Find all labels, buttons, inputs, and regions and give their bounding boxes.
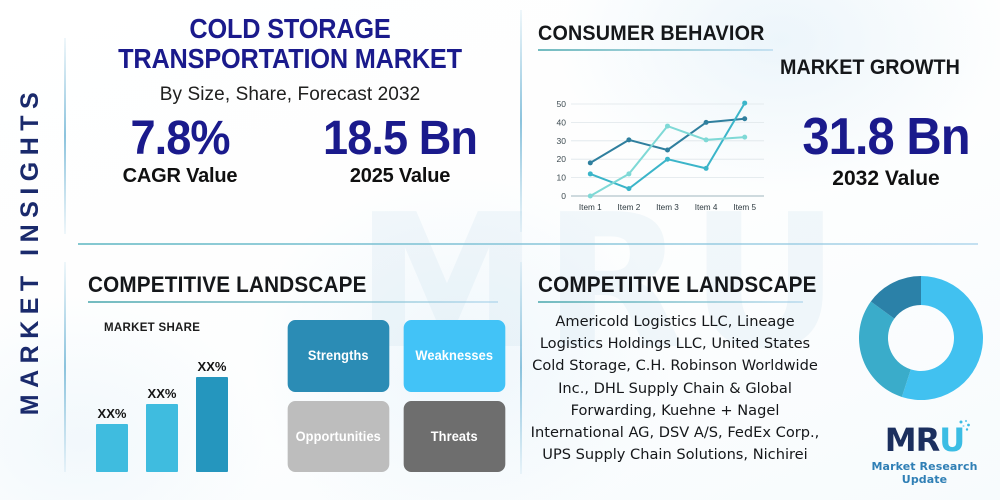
mru-logo: MRU Market Research Update [862,424,987,486]
competitive-landscape-left-rule [88,301,498,303]
market-growth-label: 2032 Value [786,167,986,191]
svg-text:40: 40 [557,117,567,127]
bar-column: XX% [196,344,228,472]
bar-value-label: XX% [98,406,127,421]
svg-text:Item 5: Item 5 [733,203,756,212]
svg-text:20: 20 [557,154,567,164]
title-block: COLD STORAGE TRANSPORTATION MARKET By Si… [70,14,510,188]
swot-box-weaknesses[interactable]: Weaknesses [403,320,504,392]
market-insights-label: MARKET INSIGHTS [17,85,46,414]
svg-text:0: 0 [561,191,566,201]
market-share-title: MARKET SHARE [104,322,200,334]
stat-cagr-label: CAGR Value [70,165,290,188]
stat-2025: 18.5 Bn 2025 Value [290,114,510,188]
logo-mark-dark: MR [885,421,939,459]
page-subtitle: By Size, Share, Forecast 2032 [70,84,510,106]
swot-box-threats[interactable]: Threats [403,401,504,473]
market-growth-value: 31.8 Bn [792,110,980,165]
stat-cagr: 7.8% CAGR Value [70,114,290,188]
divider-vertical-left-bottom [64,262,66,472]
stat-2025-value: 18.5 Bn [297,114,504,164]
consumer-behavior-rule [538,49,773,51]
bar-value-label: XX% [148,386,177,401]
stat-cagr-value: 7.8% [77,114,284,164]
bar-rect [196,377,228,472]
divider-vertical-left-top [64,38,66,234]
bar-rect [96,424,128,472]
svg-text:10: 10 [557,173,567,183]
consumer-behavior-line-chart: 01020304050Item 1Item 2Item 3Item 4Item … [545,98,770,218]
market-share-donut-chart [855,272,987,404]
market-growth-heading: MARKET GROWTH [780,56,960,80]
svg-text:Item 1: Item 1 [579,203,602,212]
competitive-landscape-right-rule [538,301,803,303]
company-list: Americold Logistics LLC, Lineage Logisti… [525,311,825,466]
logo-tagline: Market Research Update [862,460,987,486]
infographic-poster: MRU MARKET INSIGHTS COLD STORAGE TRANSPO… [0,0,1000,500]
bar-rect [146,404,178,472]
headline-stats: 7.8% CAGR Value 18.5 Bn 2025 Value [70,114,510,188]
svg-text:Item 4: Item 4 [695,203,718,212]
svg-text:Item 2: Item 2 [618,203,641,212]
divider-horizontal [78,243,978,245]
bar-column: XX% [96,344,128,472]
divider-vertical-middle-bottom [520,262,522,474]
swot-box-strengths[interactable]: Strengths [288,320,389,392]
swot-grid: StrengthsWeaknessesOpportunitiesThreats [285,320,507,472]
bar-group: XX%XX%XX% [96,344,266,472]
stat-2025-label: 2025 Value [290,165,510,188]
svg-text:50: 50 [557,99,567,109]
donut-segment [859,302,911,397]
bar-column: XX% [146,344,178,472]
market-growth-stat: 31.8 Bn 2032 Value [786,110,986,191]
logo-droplet-icon [957,419,971,437]
market-share-bar-chart: MARKET SHARE XX%XX%XX% [96,322,266,472]
divider-vertical-middle-top [520,10,522,232]
competitive-landscape-left-heading: COMPETITIVE LANDSCAPE [88,272,367,298]
svg-text:Item 3: Item 3 [656,203,679,212]
market-insights-rail: MARKET INSIGHTS [0,0,62,500]
logo-wordmark: MRU [885,424,964,456]
competitive-landscape-right-heading: COMPETITIVE LANDSCAPE [538,272,817,298]
svg-text:30: 30 [557,136,567,146]
page-title: COLD STORAGE TRANSPORTATION MARKET [88,14,493,75]
consumer-behavior-heading: CONSUMER BEHAVIOR [538,22,765,46]
bar-value-label: XX% [198,359,227,374]
swot-box-opportunities[interactable]: Opportunities [288,401,389,473]
